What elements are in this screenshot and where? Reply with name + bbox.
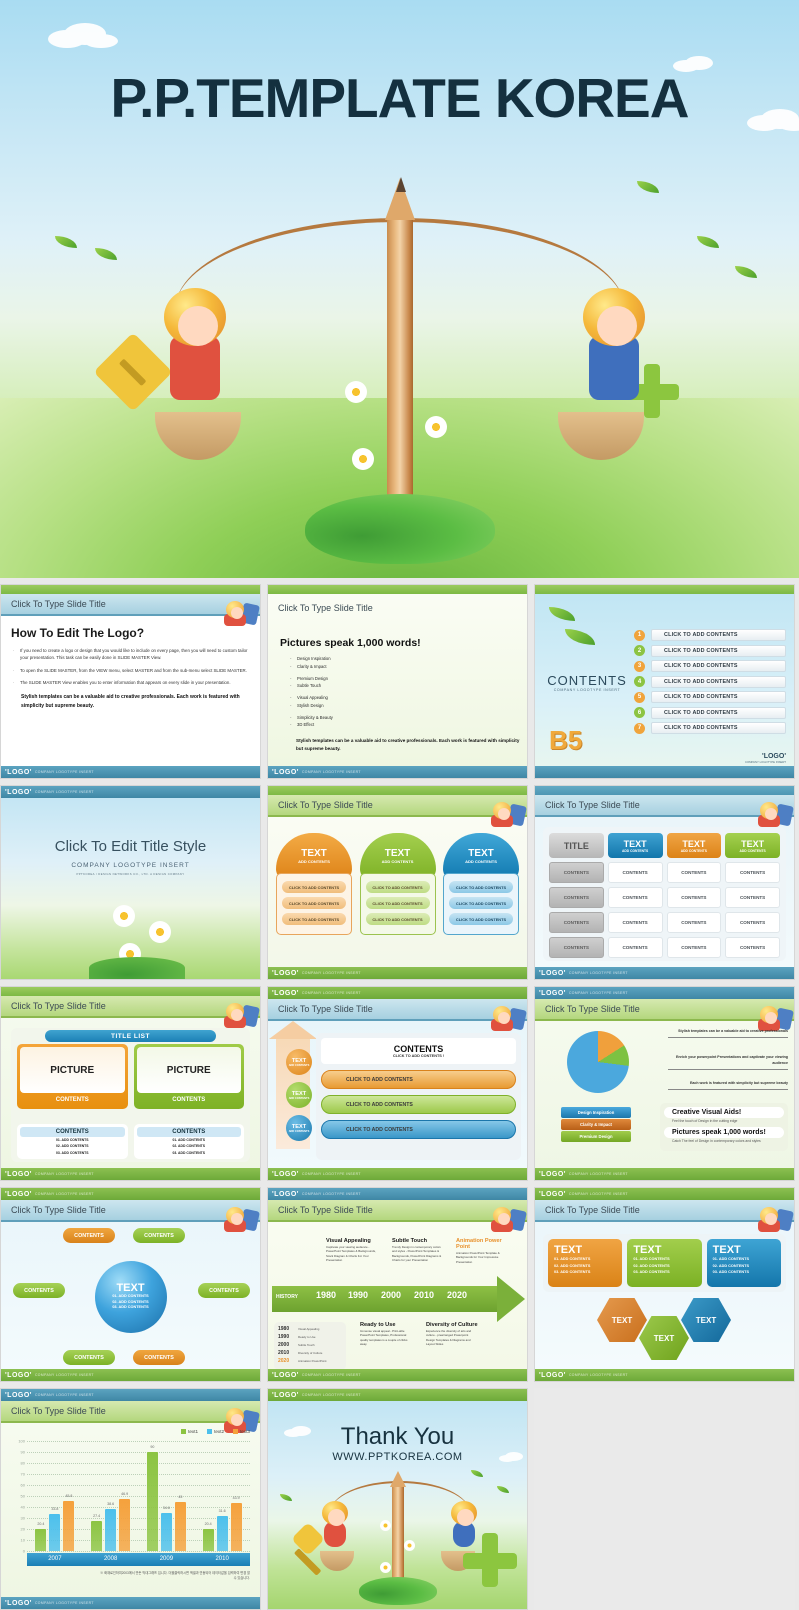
table-cell: CONTENTS xyxy=(608,862,663,883)
chart-bar: 31.6 xyxy=(217,1516,228,1551)
label-heading: Diversity of Culture xyxy=(426,1322,478,1328)
daisy-icon xyxy=(149,921,171,943)
contents-card: CONTENTS 01. ADD CONTENTS 02. ADD CONTEN… xyxy=(17,1124,128,1159)
label-heading: Subtle Touch xyxy=(392,1238,444,1244)
list-item: -Simplicity & Beauty xyxy=(290,714,527,722)
center-sphere: TEXT 01. ADD CONTENTS 02. ADD CONTENTS 0… xyxy=(95,1261,167,1333)
list-item: -Clarity & Impact xyxy=(290,663,527,671)
logo-text: 'LOGO' xyxy=(272,970,299,977)
logo-text: 'LOGO' xyxy=(5,1191,32,1198)
slide-titlebar: Click To Type Slide Title xyxy=(1,594,260,616)
closing-text: Stylish templates can be a valuable aid … xyxy=(296,737,527,754)
contents-subtitle: CLICK TO ADD CONTENTS ! xyxy=(393,1054,444,1058)
list-item[interactable]: 5CLICK TO ADD CONTENTS xyxy=(634,691,786,703)
kid-right-illustration xyxy=(559,288,669,438)
chart-bar-value: 20.4 xyxy=(205,1522,212,1526)
list-item: -Design Inspiration xyxy=(290,655,527,663)
card-item: 01. ADD CONTENTS xyxy=(713,1256,775,1263)
column-title: TEXT xyxy=(385,848,411,859)
daisy-icon xyxy=(380,1562,391,1573)
table-cell: CONTENTS xyxy=(667,862,722,883)
b5-decoration: B5 xyxy=(549,725,582,756)
column-body: CLICK TO ADD CONTENTS CLICK TO ADD CONTE… xyxy=(443,873,519,935)
slide-footer: 'LOGO' COMPANY LOGOTYPE INSERT xyxy=(1,766,260,778)
list-item[interactable]: 6CLICK TO ADD CONTENTS xyxy=(634,707,786,719)
slide-body: text1 text2 text3 0102030405060708090100… xyxy=(1,1425,260,1595)
picture-card[interactable]: PICTURE CONTENTS xyxy=(134,1044,245,1109)
card-item: 02. ADD CONTENTS xyxy=(713,1263,775,1270)
slide-title: Click To Edit Title Style xyxy=(1,838,260,855)
row-label: CLICK TO ADD CONTENTS xyxy=(651,676,786,688)
content-pill[interactable]: CLICK TO ADD CONTENTS xyxy=(366,897,430,909)
legend-row: 2010Diversity of Culture xyxy=(278,1350,342,1356)
picture-placeholder: PICTURE xyxy=(20,1047,125,1093)
table-cell: CONTENTS xyxy=(549,862,604,883)
cycle-pill[interactable]: CONTENTS xyxy=(63,1350,115,1365)
slide-thumbnail-pictures-speak[interactable]: Click To Type Slide Title Pictures speak… xyxy=(267,584,528,779)
logo-subtext: COMPANY LOGOTYPE INSERT xyxy=(302,1192,361,1196)
slide-titlebar: Click To Type Slide Title xyxy=(268,999,527,1021)
card-item: 02. ADD CONTENTS xyxy=(554,1263,616,1270)
chart-legend: text1 text2 text3 xyxy=(181,1429,250,1434)
highlight-caption: Catch The feel of Design in contemporary… xyxy=(664,1139,784,1143)
chart-bar-value: 34.6 xyxy=(163,1506,170,1510)
row-number: 6 xyxy=(634,707,645,718)
list-item: -Visual Appealing xyxy=(290,694,527,702)
logo-subtext: COMPANY LOGOTYPE INSERT xyxy=(35,790,94,794)
callout-text: Stylish templates can be a valuable aid … xyxy=(668,1029,788,1038)
cylinder-layer: Clarity & Impact xyxy=(561,1119,631,1130)
slide-footer: 'LOGO' COMPANY LOGOTYPE INSERT xyxy=(535,967,794,979)
slide-body: HISTORY 1980 1990 2000 2010 2020 Visual … xyxy=(268,1224,527,1369)
label-text: Captivate your viewing audience - PowerP… xyxy=(326,1245,378,1262)
table-cell: CONTENTS xyxy=(608,887,663,908)
column: TEXT ADD CONTENTS CLICK TO ADD CONTENTS … xyxy=(443,833,519,935)
daisy-icon xyxy=(345,381,367,403)
table-cell: CONTENTS xyxy=(725,937,780,958)
chart-bar: 90 xyxy=(147,1452,158,1551)
contents-title: CONTENTS xyxy=(394,1044,444,1054)
logo-text: 'LOGO' xyxy=(5,1372,32,1379)
cloud-icon xyxy=(48,30,86,48)
column-subtitle: ADD CONTENTS xyxy=(298,859,330,864)
table-header: TEXTADD CONTENTS xyxy=(725,833,780,858)
logo-subtext: COMPANY LOGOTYPE INSERT xyxy=(302,1172,361,1176)
contents-header: CONTENTS xyxy=(137,1127,242,1137)
picture-caption: CONTENTS xyxy=(20,1093,125,1106)
list-item[interactable]: 1CLICK TO ADD CONTENTS xyxy=(634,629,786,641)
logo-text: 'LOGO' xyxy=(539,970,566,977)
timeline-label-top: Animation Power Point Animation PowerPoi… xyxy=(456,1238,508,1264)
label-text: Immense visual appeal - Print-able Power… xyxy=(360,1329,412,1346)
table-header: TEXTADD CONTENTS xyxy=(667,833,722,858)
timeline-year: 1990 xyxy=(348,1290,368,1300)
chart-bar-value: 90 xyxy=(150,1445,154,1449)
slide-thumbnail-history-timeline[interactable]: 'LOGO' COMPANY LOGOTYPE INSERT Click To … xyxy=(267,1187,528,1382)
logo-subtext: COMPANY LOGOTYPE INSERT xyxy=(35,1373,94,1377)
logo-text: 'LOGO' xyxy=(272,1392,299,1399)
timeline-year: 1980 xyxy=(316,1290,336,1300)
card-item: 03. ADD CONTENTS xyxy=(554,1269,616,1276)
slide-title: Click To Type Slide Title xyxy=(545,800,640,810)
text-card[interactable]: TEXT 01. ADD CONTENTS 02. ADD CONTENTS 0… xyxy=(627,1239,701,1287)
logo-text: 'LOGO' xyxy=(5,1600,32,1607)
slide-footer xyxy=(535,766,794,778)
content-pill[interactable]: CLICK TO ADD CONTENTS xyxy=(282,881,346,893)
slide-thumbnail-contents-list[interactable]: CONTENTS COMPANY LOGOTYPE INSERT B5 1CLI… xyxy=(534,584,795,779)
hero-title: P.P.TEMPLATE KOREA xyxy=(0,66,799,130)
slide-thumbnail-bar-chart[interactable]: 'LOGO' COMPANY LOGOTYPE INSERT Click To … xyxy=(0,1388,261,1610)
slide-logobar: 'LOGO' COMPANY LOGOTYPE INSERT xyxy=(535,987,794,999)
contents-header: CONTENTS CLICK TO ADD CONTENTS ! xyxy=(321,1038,516,1064)
slide-footer: 'LOGO' COMPANY LOGOTYPE INSERT xyxy=(535,1369,794,1381)
row-number: 3 xyxy=(634,661,645,672)
row-label: CLICK TO ADD CONTENTS xyxy=(651,645,786,657)
y-tick-label: 90 xyxy=(5,1450,25,1455)
cloud-icon xyxy=(284,1429,302,1437)
logo-subtext: COMPANY LOGOTYPE INSERT xyxy=(35,1172,94,1176)
logo-subtext: COMPANY LOGOTYPE INSERT xyxy=(35,770,94,774)
slide-thumbnail-how-to-edit-logo[interactable]: Click To Type Slide Title How To Edit Th… xyxy=(0,584,261,779)
cycle-pill[interactable]: CONTENTS xyxy=(133,1228,185,1243)
logo-text: 'LOGO' xyxy=(5,769,32,776)
chart-bar-value: 38.6 xyxy=(107,1502,114,1506)
slide-title: Click To Type Slide Title xyxy=(11,1001,106,1011)
list-item[interactable]: 2CLICK TO ADD CONTENTS xyxy=(634,645,786,657)
bullet-list: ·If you need to create a logo or design … xyxy=(13,647,248,687)
leaf-icon xyxy=(55,236,77,248)
row-number: 5 xyxy=(634,692,645,703)
content-pill[interactable]: CLICK TO ADD CONTENTS xyxy=(366,913,430,925)
logo-text: 'LOGO' xyxy=(272,769,299,776)
hexagon-shape[interactable]: TEXT xyxy=(597,1298,647,1342)
slide-titlebar: Click To Type Slide Title xyxy=(535,999,794,1021)
row-label: CLICK TO ADD CONTENTS xyxy=(651,722,786,734)
list-item: 03. ADD CONTENTS xyxy=(20,1150,125,1156)
chart-bar: 45.8 xyxy=(63,1501,74,1551)
picture-caption: CONTENTS xyxy=(137,1093,242,1106)
logo-subtext: COMPANY LOGOTYPE INSERT xyxy=(745,760,786,764)
legend-entry: text2 xyxy=(207,1429,224,1434)
slide-title: Click To Type Slide Title xyxy=(278,1205,373,1215)
chart-bar-value: 45.8 xyxy=(65,1494,72,1498)
content-bar[interactable]: CLICK TO ADD CONTENTS xyxy=(321,1120,516,1139)
stage-circle[interactable]: TEXTADD CONTENTS xyxy=(286,1082,312,1108)
logo-text: 'LOGO' xyxy=(272,990,299,997)
logo-text: 'LOGO' xyxy=(539,1171,566,1178)
title-list-banner: TITLE LIST xyxy=(45,1030,216,1042)
logo-subtext: COMPANY LOGOTYPE INSERT xyxy=(35,1601,94,1605)
table-cell: CONTENTS xyxy=(608,912,663,933)
slide-thumbnail-title-list[interactable]: Click To Type Slide Title TITLE LIST PIC… xyxy=(0,986,261,1181)
slide-title: Click To Type Slide Title xyxy=(545,1205,640,1215)
x-tick-label: 2007 xyxy=(27,1553,83,1566)
legend-row: 2000Subtle Touch xyxy=(278,1342,342,1348)
logo-subtext: COMPANY LOGOTYPE INSERT xyxy=(35,1192,94,1196)
label-text: Experience the diversity of arts and cul… xyxy=(426,1329,478,1346)
logo-text: 'LOGO' xyxy=(272,1171,299,1178)
logo-text: 'LOGO' xyxy=(5,1392,32,1399)
kid-left-illustration xyxy=(140,288,250,438)
row-number: 1 xyxy=(634,630,645,641)
callout-text: Each work is featured with simplicity bu… xyxy=(668,1081,788,1090)
slide-title: Click To Type Slide Title xyxy=(545,1004,640,1014)
leaf-icon xyxy=(280,1494,292,1501)
slide-title: Click To Type Slide Title xyxy=(278,603,373,613)
picture-card[interactable]: PICTURE CONTENTS xyxy=(17,1044,128,1109)
timeline-year: 2020 xyxy=(447,1290,467,1300)
cycle-pill[interactable]: CONTENTS xyxy=(63,1228,115,1243)
slide-titlebar: Click To Type Slide Title xyxy=(1,996,260,1018)
list-item: -Stylish Design xyxy=(290,702,527,710)
slide-thumbnail-sphere-cycle[interactable]: 'LOGO' COMPANY LOGOTYPE INSERT Click To … xyxy=(0,1187,261,1382)
row-label: CLICK TO ADD CONTENTS xyxy=(651,629,786,641)
column-subtitle: ADD CONTENTS xyxy=(382,859,414,864)
legend-entry: text3 xyxy=(233,1429,250,1434)
slide-titlebar: Click To Type Slide Title xyxy=(268,1200,527,1222)
list-item: -3D Effect xyxy=(290,721,527,729)
contents-label: CONTENTS xyxy=(547,673,627,688)
slide-topbar xyxy=(535,786,794,795)
cylinder-layer: Design Inspiration xyxy=(561,1107,631,1118)
slide-topbar xyxy=(1,585,260,594)
slide-thumbnail-hex-cards[interactable]: 'LOGO' COMPANY LOGOTYPE INSERT Click To … xyxy=(534,1187,795,1382)
chart-bar: 33.8 xyxy=(49,1514,60,1551)
logo-text: 'LOGO' xyxy=(5,1171,32,1178)
slide-topbar xyxy=(535,585,794,594)
timeline-legend: 1980Visual Appealing 1990Ready to Use 20… xyxy=(274,1322,346,1370)
logo-subtext: COMPANY LOGOTYPE INSERT xyxy=(35,1393,94,1397)
table-cell: CONTENTS xyxy=(667,887,722,908)
label-heading: Ready to Use xyxy=(360,1322,412,1328)
column: TEXT ADD CONTENTS CLICK TO ADD CONTENTS … xyxy=(360,833,436,935)
slide-logobar: 'LOGO' COMPANY LOGOTYPE INSERT xyxy=(1,1389,260,1401)
content-pill[interactable]: CLICK TO ADD CONTENTS xyxy=(282,897,346,909)
hero-banner: P.P.TEMPLATE KOREA xyxy=(0,0,799,578)
label-heading: Visual Appealing xyxy=(326,1238,378,1244)
slide-body: TEXT 01. ADD CONTENTS 02. ADD CONTENTS 0… xyxy=(1,1224,260,1369)
hero-illustration xyxy=(0,158,799,578)
thank-you-title: Thank You xyxy=(268,1423,527,1451)
text-card[interactable]: TEXT 01. ADD CONTENTS 02. ADD CONTENTS 0… xyxy=(548,1239,622,1287)
contents-card: CONTENTS 01. ADD CONTENTS 02. ADD CONTEN… xyxy=(134,1124,245,1159)
timeline-year: 2000 xyxy=(381,1290,401,1300)
sphere-title: TEXT xyxy=(116,1282,144,1294)
kid-left-illustration xyxy=(312,1501,358,1561)
slide-thumbnail-arrow-bars[interactable]: 'LOGO' COMPANY LOGOTYPE INSERT Click To … xyxy=(267,986,528,1181)
slide-logobar: 'LOGO' COMPANY LOGOTYPE INSERT xyxy=(535,1188,794,1200)
slide-title: Click To Type Slide Title xyxy=(278,1004,373,1014)
slide-title: Click To Type Slide Title xyxy=(11,1205,106,1215)
list-item[interactable]: 4CLICK TO ADD CONTENTS xyxy=(634,676,786,688)
column-group: TEXT ADD CONTENTS CLICK TO ADD CONTENTS … xyxy=(276,833,519,935)
column-title: TEXT xyxy=(468,848,494,859)
table-grid: TITLE TEXTADD CONTENTS TEXTADD CONTENTS … xyxy=(549,833,780,958)
chart-bar: 45 xyxy=(175,1502,186,1552)
logo-subtext: COMPANY LOGOTYPE INSERT xyxy=(569,991,628,995)
slide-logobar: 'LOGO' COMPANY LOGOTYPE INSERT xyxy=(1,786,260,798)
slide-footer: 'LOGO' COMPANY LOGOTYPE INSERT xyxy=(268,1369,527,1381)
table-cell: CONTENTS xyxy=(725,912,780,933)
content-pill[interactable]: CLICK TO ADD CONTENTS xyxy=(449,881,513,893)
slide-body: TITLE TEXTADD CONTENTS TEXTADD CONTENTS … xyxy=(535,819,794,967)
logo-text: 'LOGO' xyxy=(539,990,566,997)
slide-thumbnail-three-circles[interactable]: Click To Type Slide Title TEXT ADD CONTE… xyxy=(267,785,528,980)
chart-bar-value: 27.4 xyxy=(93,1514,100,1518)
chart-bar-group: 20.433.845.8 xyxy=(27,1441,83,1551)
closing-text: Stylish templates can be a valuable aid … xyxy=(21,693,260,711)
hexagon-shape[interactable]: TEXT xyxy=(681,1298,731,1342)
content-bar[interactable]: CLICK TO ADD CONTENTS xyxy=(321,1095,516,1114)
plus-glyph-icon xyxy=(463,1533,487,1557)
content-pill[interactable]: CLICK TO ADD CONTENTS xyxy=(282,913,346,925)
daisy-icon xyxy=(380,1520,391,1531)
leaf-icon xyxy=(497,1486,509,1493)
list-item[interactable]: 3CLICK TO ADD CONTENTS xyxy=(634,660,786,672)
stage-circle[interactable]: TEXTADD CONTENTS xyxy=(286,1049,312,1075)
timeline-label-bottom: Diversity of Culture Experience the dive… xyxy=(426,1322,478,1346)
chart-bar: 34.6 xyxy=(161,1513,172,1551)
logo-subtext: COMPANY LOGOTYPE INSERT xyxy=(302,1373,361,1377)
chart-gridline xyxy=(27,1551,250,1552)
logo-text: 'LOGO' xyxy=(272,1191,299,1198)
table-cell: CONTENTS xyxy=(667,937,722,958)
slide-footer: 'LOGO' COMPANY LOGOTYPE INSERT xyxy=(268,967,527,979)
content-pill[interactable]: CLICK TO ADD CONTENTS xyxy=(366,881,430,893)
pencil-icon xyxy=(387,218,413,518)
y-tick-label: 0 xyxy=(5,1549,25,1554)
list-item[interactable]: 7CLICK TO ADD CONTENTS xyxy=(634,722,786,734)
cycle-pill[interactable]: CONTENTS xyxy=(198,1283,250,1298)
table-cell: CONTENTS xyxy=(725,887,780,908)
y-tick-label: 30 xyxy=(5,1516,25,1521)
chart-plot-area: 010203040506070809010020.433.845.827.438… xyxy=(27,1441,250,1551)
list-item: -Premium Design xyxy=(290,675,527,683)
chart-bar-value: 43.9 xyxy=(233,1496,240,1500)
list-item: 03. ADD CONTENTS xyxy=(137,1150,242,1156)
y-tick-label: 60 xyxy=(5,1483,25,1488)
legend-row: 2020Animation PowerPoint xyxy=(278,1358,342,1364)
card-panel: TEXT 01. ADD CONTENTS 02. ADD CONTENTS 0… xyxy=(543,1234,786,1292)
leaf-icon xyxy=(95,248,117,260)
slide-titlebar: Click To Type Slide Title xyxy=(1,1401,260,1423)
slide-body: TEXT ADD CONTENTS CLICK TO ADD CONTENTS … xyxy=(268,819,527,967)
logo-subtext: COMPANY LOGOTYPE INSERT xyxy=(569,1373,628,1377)
stage-circle[interactable]: TEXTADD CONTENTS xyxy=(286,1115,312,1141)
contents-label-block: CONTENTS COMPANY LOGOTYPE INSERT xyxy=(547,673,627,693)
text-card[interactable]: TEXT 01. ADD CONTENTS 02. ADD CONTENTS 0… xyxy=(707,1239,781,1287)
row-label: CLICK TO ADD CONTENTS xyxy=(651,691,786,703)
column-body: CLICK TO ADD CONTENTS CLICK TO ADD CONTE… xyxy=(360,873,436,935)
table-cell: CONTENTS xyxy=(549,912,604,933)
chart-bar-group: 20.431.643.9 xyxy=(194,1441,250,1551)
hexagon-shape[interactable]: TEXT xyxy=(639,1316,689,1360)
card-item: 02. ADD CONTENTS xyxy=(633,1263,695,1270)
slide-body: How To Edit The Logo? ·If you need to cr… xyxy=(1,618,260,766)
logo-subtext: COMPANY LOGOTYPE INSERT xyxy=(569,971,628,975)
y-tick-label: 100 xyxy=(5,1439,25,1444)
logo-subtext: COMPANY LOGOTYPE INSERT xyxy=(569,1172,628,1176)
cycle-pill[interactable]: CONTENTS xyxy=(133,1350,185,1365)
contents-sublabel: COMPANY LOGOTYPE INSERT xyxy=(547,688,627,693)
table-panel: TITLE TEXTADD CONTENTS TEXTADD CONTENTS … xyxy=(543,827,786,961)
pencil-tip-icon xyxy=(390,1471,406,1487)
y-tick-label: 50 xyxy=(5,1494,25,1499)
table-cell: CONTENTS xyxy=(549,887,604,908)
daisy-icon xyxy=(113,905,135,927)
slide-footer: 'LOGO' COMPANY LOGOTYPE INSERT xyxy=(1,1597,260,1609)
timeline-axis-label: HISTORY xyxy=(276,1294,298,1300)
slide-thumbnail-title-style[interactable]: 'LOGO' COMPANY LOGOTYPE INSERT Click To … xyxy=(0,785,261,980)
leaf-icon xyxy=(637,181,659,193)
highlight-title: Creative Visual Aids! xyxy=(664,1107,784,1118)
slide-footer: 'LOGO' COMPANY LOGOTYPE INSERT xyxy=(1,1168,260,1180)
cylinder-chart: Design Inspiration Clarity & Impact Prem… xyxy=(561,1107,631,1149)
column-title: TEXT xyxy=(301,848,327,859)
card-title: TEXT xyxy=(713,1244,775,1256)
slide-thumbnail-pie-callouts[interactable]: 'LOGO' COMPANY LOGOTYPE INSERT Click To … xyxy=(534,986,795,1181)
table-cell: CONTENTS xyxy=(608,937,663,958)
table-cell: CONTENTS xyxy=(725,862,780,883)
daisy-icon xyxy=(425,416,447,438)
table-cell: CONTENTS xyxy=(549,937,604,958)
logo-text: 'LOGO' xyxy=(539,1372,566,1379)
chart-bar: 38.6 xyxy=(105,1509,116,1551)
row-number: 4 xyxy=(634,676,645,687)
slide-topbar xyxy=(268,585,527,594)
legend-row: 1990Ready to Use xyxy=(278,1334,342,1340)
chart-x-axis: 2007 2008 2009 2010 xyxy=(27,1553,250,1566)
slide-logobar: 'LOGO' COMPANY LOGOTYPE INSERT xyxy=(268,1188,527,1200)
slide-heading: How To Edit The Logo? xyxy=(11,626,260,640)
slide-logo: 'LOGO' COMPANY LOGOTYPE INSERT xyxy=(745,753,786,764)
timeline-arrow-tip xyxy=(497,1276,525,1322)
chart-bar: 27.4 xyxy=(91,1521,102,1551)
logo-subtext: COMPANY LOGOTYPE INSERT xyxy=(302,1393,361,1397)
card-title: TEXT xyxy=(554,1244,616,1256)
row-number: 7 xyxy=(634,723,645,734)
card-item: 03. ADD CONTENTS xyxy=(713,1269,775,1276)
logo-text: 'LOGO' xyxy=(5,789,32,796)
cycle-pill[interactable]: CONTENTS xyxy=(13,1283,65,1298)
slide-thumbnail-thank-you[interactable]: 'LOGO' COMPANY LOGOTYPE INSERT Thank You… xyxy=(267,1388,528,1610)
column-subtitle: ADD CONTENTS xyxy=(465,859,497,864)
highlight-title: Pictures speak 1,000 words! xyxy=(664,1127,784,1138)
daisy-icon xyxy=(352,448,374,470)
content-bar[interactable]: CLICK TO ADD CONTENTS xyxy=(321,1070,516,1089)
pencil-lead-icon xyxy=(396,177,406,192)
chart-bar-value: 45 xyxy=(178,1495,182,1499)
slide-thumbnail-table[interactable]: Click To Type Slide Title TITLE TEXTADD … xyxy=(534,785,795,980)
picture-row: PICTURE CONTENTS PICTURE CONTENTS xyxy=(17,1044,244,1109)
slide-titlebar: Click To Type Slide Title xyxy=(1,1200,260,1222)
content-pill[interactable]: CLICK TO ADD CONTENTS xyxy=(449,913,513,925)
bush-illustration xyxy=(359,1577,437,1605)
slide-subtitle: COMPANY LOGOTYPE INSERT xyxy=(1,862,260,869)
list-item: ·To open the SLIDE MASTER, from the VIEW… xyxy=(13,667,248,674)
slide-titlebar: Click To Type Slide Title xyxy=(535,795,794,817)
content-pill[interactable]: CLICK TO ADD CONTENTS xyxy=(449,897,513,909)
cylinder-layer: Premium Design xyxy=(561,1131,631,1142)
timeline-year: 2010 xyxy=(414,1290,434,1300)
slide-thumbnail-grid: Click To Type Slide Title How To Edit Th… xyxy=(0,578,799,1610)
logo-text: 'LOGO' xyxy=(272,1372,299,1379)
pie-chart xyxy=(567,1031,629,1093)
slide-logobar: 'LOGO' COMPANY LOGOTYPE INSERT xyxy=(268,987,527,999)
y-tick-label: 20 xyxy=(5,1527,25,1532)
contents-row: CONTENTS 01. ADD CONTENTS 02. ADD CONTEN… xyxy=(17,1124,244,1159)
legend-row: 1980Visual Appealing xyxy=(278,1326,342,1332)
